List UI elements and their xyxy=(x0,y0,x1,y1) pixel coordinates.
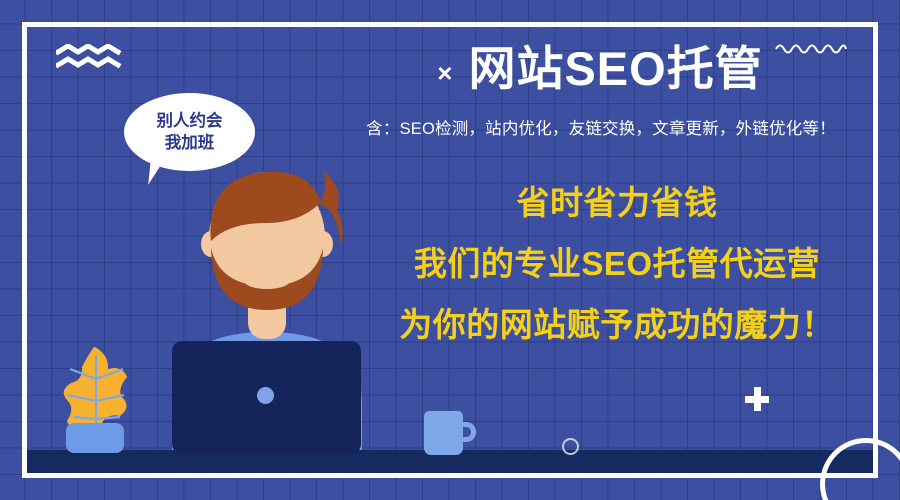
slogan-line-2: 我们的专业SEO托管代运营 xyxy=(352,247,882,280)
subtitle: 含：SEO检测，站内优化，友链交换，文章更新，外链优化等！ xyxy=(320,115,882,139)
person-neck xyxy=(248,287,286,339)
person-ear-left xyxy=(201,231,221,257)
seo-hosting-banner: 别人约会 我加班 × 网站SEO托管 含：SEO检测，站内优化，友链交换，文章更… xyxy=(0,0,900,500)
plus-icon xyxy=(745,387,769,411)
mug-handle xyxy=(457,422,476,442)
person-head xyxy=(209,172,325,304)
title-row: × 网站SEO托管 xyxy=(320,44,880,93)
person-hair xyxy=(210,171,342,246)
coffee-mug xyxy=(424,411,478,455)
person-beard xyxy=(211,248,323,310)
speech-bubble-line-2: 我加班 xyxy=(165,132,215,154)
circle-outline-icon xyxy=(562,438,579,455)
speech-bubble: 别人约会 我加班 xyxy=(124,93,255,171)
slogan-block: 省时省力省钱 我们的专业SEO托管代运营 为你的网站赋予成功的魔力！ xyxy=(352,186,882,341)
person-ear-right xyxy=(313,231,333,257)
slogan-line-1: 省时省力省钱 xyxy=(352,186,882,219)
plant xyxy=(48,345,144,455)
wave-lines-icon xyxy=(56,44,122,70)
page-title: 网站SEO托管 xyxy=(468,44,762,93)
plant-pot xyxy=(66,423,124,453)
slogan-line-3: 为你的网站赋予成功的魔力！ xyxy=(352,308,882,341)
speech-bubble-line-1: 别人约会 xyxy=(157,110,223,132)
laptop-logo-icon xyxy=(257,387,274,404)
person-mouth xyxy=(244,273,290,289)
laptop xyxy=(172,341,361,454)
x-mark-icon: × xyxy=(437,60,452,86)
